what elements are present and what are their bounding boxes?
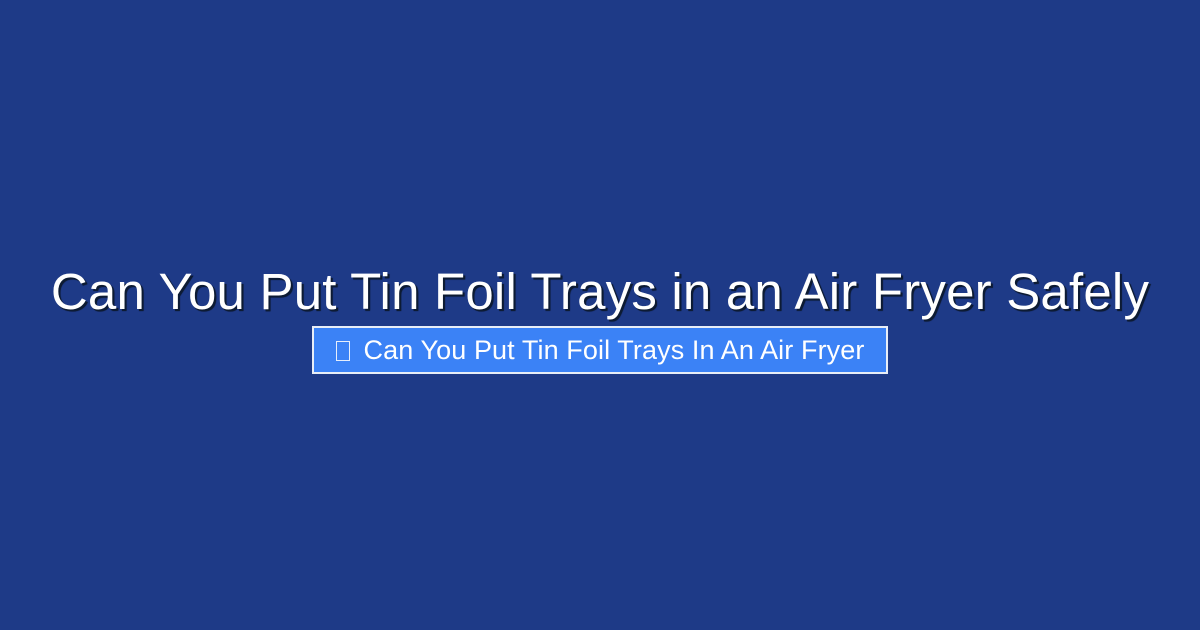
cta-container: Can You Put Tin Foil Trays In An Air Fry… (0, 326, 1200, 374)
missing-glyph-box-icon (336, 341, 350, 361)
page-title: Can You Put Tin Foil Trays in an Air Fry… (0, 262, 1200, 322)
cta-button-label: Can You Put Tin Foil Trays In An Air Fry… (364, 328, 865, 372)
og-card: Can You Put Tin Foil Trays in an Air Fry… (0, 0, 1200, 630)
cta-button[interactable]: Can You Put Tin Foil Trays In An Air Fry… (312, 326, 889, 374)
